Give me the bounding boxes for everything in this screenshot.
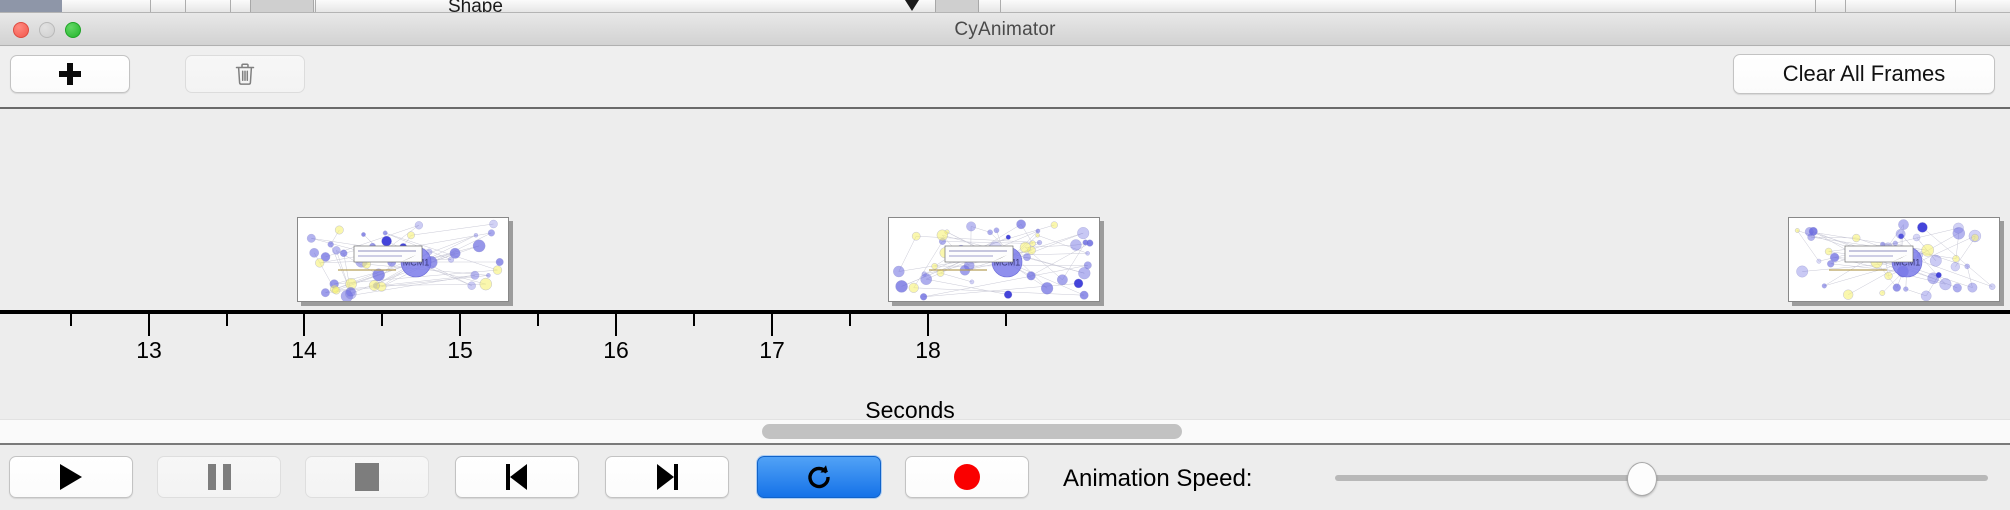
add-frame-button[interactable] xyxy=(10,55,130,93)
axis-tick xyxy=(615,314,617,336)
first-frame-button[interactable] xyxy=(455,456,579,498)
axis-tick xyxy=(148,314,150,336)
axis-tick xyxy=(70,314,72,326)
axis-tick-label: 14 xyxy=(291,337,317,364)
record-button[interactable] xyxy=(905,456,1029,498)
frame-thumbnail[interactable]: MCM1 xyxy=(1788,217,2000,302)
frame-thumbnail[interactable]: MCM1 xyxy=(297,217,509,302)
axis-tick xyxy=(226,314,228,326)
axis-title: Seconds xyxy=(0,397,2010,419)
axis-tick xyxy=(927,314,929,336)
trash-icon xyxy=(234,62,256,86)
last-frame-button[interactable] xyxy=(605,456,729,498)
frame-toolbar: Clear All Frames xyxy=(0,47,2010,109)
axis-tick-label: 15 xyxy=(447,337,473,364)
timeline-scrollbar-thumb[interactable] xyxy=(762,424,1182,439)
stop-button[interactable] xyxy=(305,456,429,498)
axis-tick xyxy=(771,314,773,336)
axis-tick xyxy=(303,314,305,336)
delete-frame-button[interactable] xyxy=(185,55,305,93)
axis-tick xyxy=(537,314,539,326)
animation-speed-slider[interactable] xyxy=(1335,475,1988,481)
record-icon xyxy=(954,464,980,490)
window-title: CyAnimator xyxy=(0,19,2010,41)
axis-tick xyxy=(849,314,851,326)
axis-tick-label: 16 xyxy=(603,337,629,364)
axis-tick-label: 18 xyxy=(915,337,941,364)
plus-icon xyxy=(59,63,81,85)
playback-controls: Animation Speed: xyxy=(0,447,2010,510)
play-button[interactable] xyxy=(9,456,133,498)
axis-tick xyxy=(381,314,383,326)
loop-button[interactable] xyxy=(757,456,881,498)
axis-tick xyxy=(1005,314,1007,326)
timeline-panel[interactable]: 2131415161718 MCM1 MCM1 MCM1 xyxy=(0,109,2010,419)
loop-icon xyxy=(804,462,834,492)
skip-back-icon xyxy=(504,464,530,490)
frame-thumbnail[interactable]: MCM1 xyxy=(888,217,1100,302)
animation-speed-label: Animation Speed: xyxy=(1063,465,1252,493)
axis-tick-label: 17 xyxy=(759,337,785,364)
stop-icon xyxy=(355,463,379,491)
clear-all-frames-button[interactable]: Clear All Frames xyxy=(1733,54,1995,94)
title-bar: CyAnimator xyxy=(0,13,2010,46)
skip-forward-icon xyxy=(654,464,680,490)
play-icon xyxy=(60,464,82,490)
background-window-strip: Shape xyxy=(0,0,2010,13)
axis-tick xyxy=(459,314,461,336)
animation-speed-slider-thumb[interactable] xyxy=(1627,462,1657,496)
pause-button[interactable] xyxy=(157,456,281,498)
pause-icon xyxy=(208,464,231,490)
axis-tick xyxy=(693,314,695,326)
background-window-label: Shape xyxy=(448,0,503,13)
cyanimator-window: Shape .bg-strip .bgtext { left: 448px; }… xyxy=(0,0,2010,510)
axis-tick-label: 13 xyxy=(136,337,162,364)
